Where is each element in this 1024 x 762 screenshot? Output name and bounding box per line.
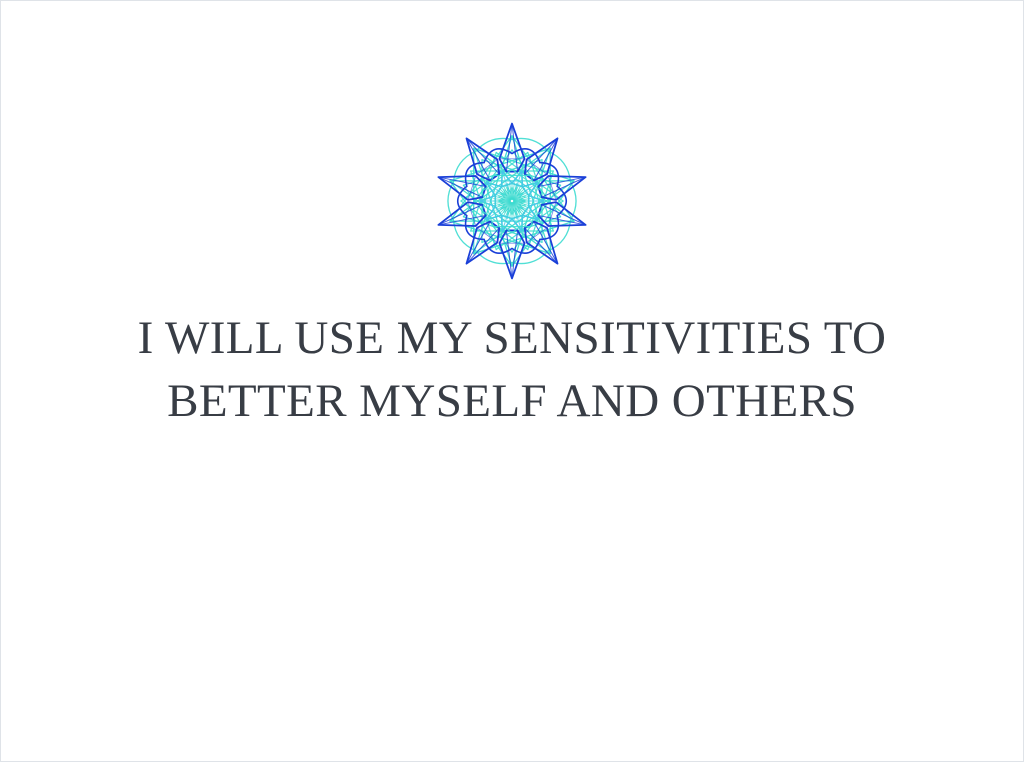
quote-line-1: I WILL USE MY SENSITIVITIES TO	[41, 307, 983, 370]
affirmation-quote: I WILL USE MY SENSITIVITIES TO BETTER MY…	[1, 307, 1023, 433]
quote-line-2: BETTER MYSELF AND OTHERS	[41, 370, 983, 433]
mandala-emblem-container	[1, 113, 1023, 289]
mandala-flower-icon	[424, 113, 600, 289]
affirmation-card: I WILL USE MY SENSITIVITIES TO BETTER MY…	[0, 0, 1024, 762]
